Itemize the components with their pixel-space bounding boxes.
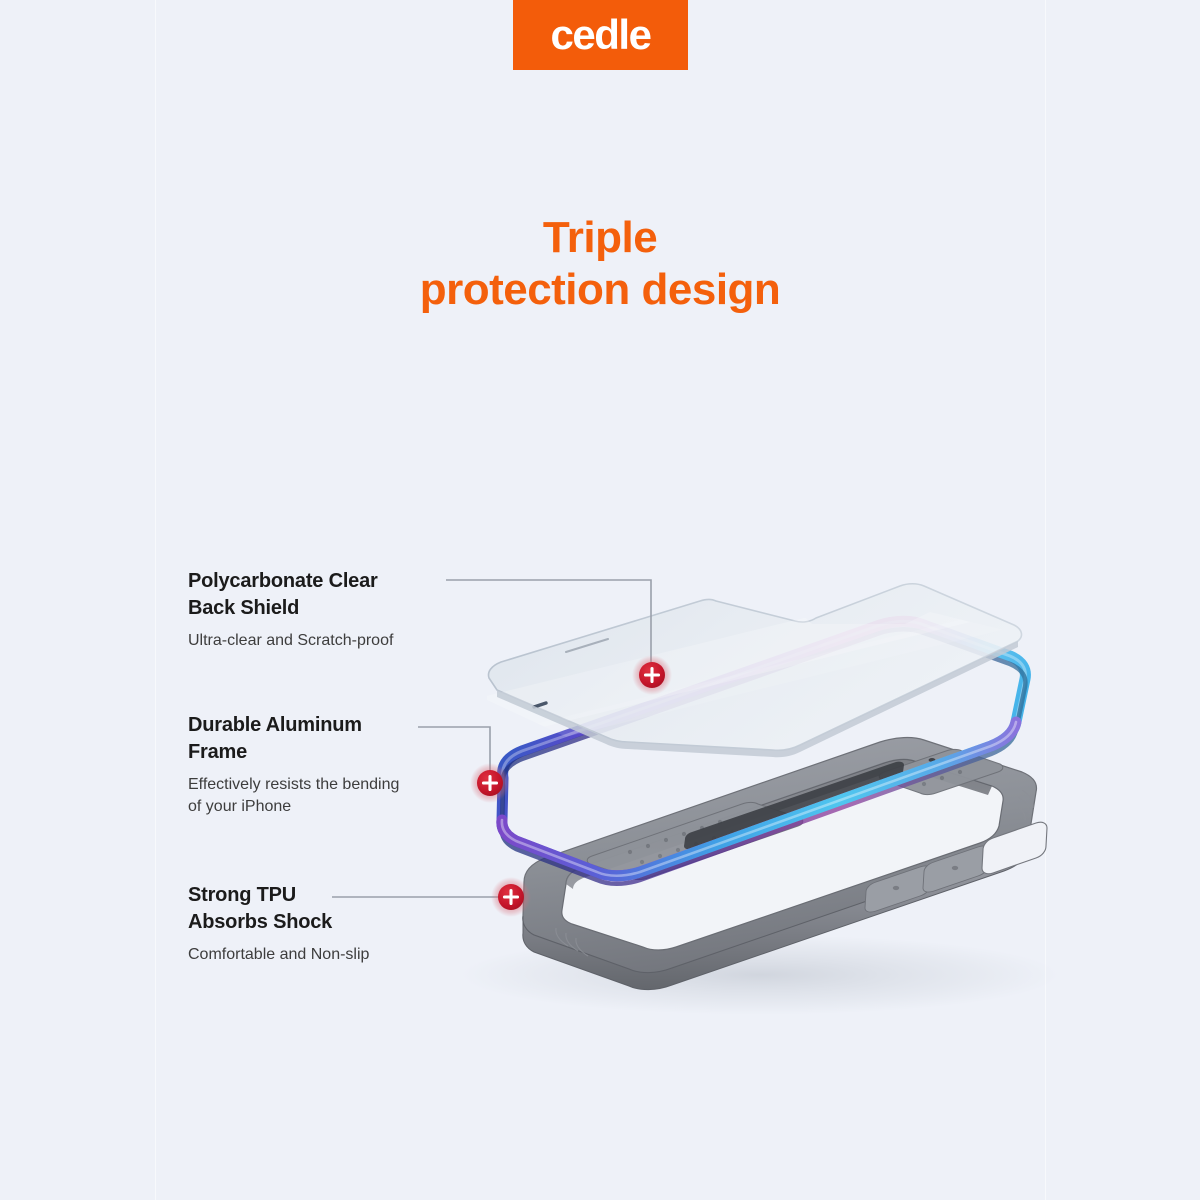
callout-durable-aluminum-frame: Durable Aluminum Frame Effectively resis… [188,712,488,819]
page-title: Triple protection design [0,212,1200,316]
product-exploded-diagram [0,0,1200,1200]
hotspot-marker-3[interactable] [491,877,531,917]
callout-1-title: Polycarbonate Clear Back Shield [188,568,488,622]
callout-polycarbonate-clear-back-shield: Polycarbonate Clear Back Shield Ultra-cl… [188,568,488,652]
brand-logo: cedle [513,0,688,70]
callout-strong-tpu-absorbs-shock: Strong TPU Absorbs Shock Comfortable and… [188,882,488,966]
product-shadow [460,935,1060,1015]
hotspot-marker-1[interactable] [632,655,672,695]
page-title-line-1: Triple [0,212,1200,264]
callout-3-subtitle: Comfortable and Non-slip [188,944,488,967]
page-title-line-2: protection design [0,264,1200,316]
aluminum-frame-layer [502,621,1026,884]
callout-1-subtitle: Ultra-clear and Scratch-proof [188,630,488,653]
tpu-bumper-case-layer [523,738,1047,990]
callout-2-title: Durable Aluminum Frame [188,712,488,766]
callout-3-title: Strong TPU Absorbs Shock [188,882,488,936]
brand-logo-text: cedle [551,14,651,56]
background-seam-right [1045,0,1046,1200]
clear-back-shield-layer [470,560,1060,758]
background-seam-left [155,0,156,1200]
case-side-buttons [865,846,989,912]
callout-2-subtitle: Effectively resists the bending of your … [188,774,488,819]
